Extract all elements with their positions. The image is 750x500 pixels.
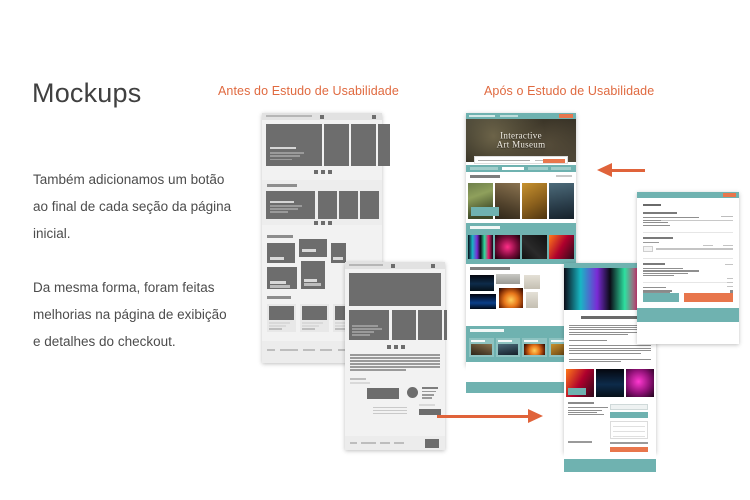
wireframe-qty-field[interactable] [367, 388, 399, 399]
summary-heading [643, 263, 665, 265]
nav-cta-button[interactable] [559, 114, 573, 118]
wireframe-hero-tile-4 [378, 124, 390, 166]
featured-tile-4[interactable] [549, 183, 574, 219]
ticket-form-details [568, 407, 608, 415]
article-gallery-2[interactable] [596, 369, 624, 397]
wireframe-nav-icon-2 [372, 115, 376, 119]
exhibition-tiles [468, 235, 574, 259]
filter-chip-4[interactable] [551, 167, 571, 170]
wireframe-cards-heading [267, 296, 291, 299]
after-homepage-mockup[interactable]: Interactive Art Museum [466, 113, 576, 366]
grand-total-label [643, 290, 672, 292]
wireframe-section-2-heading [267, 184, 297, 187]
collection-item-4[interactable] [470, 294, 496, 309]
wireframe-card-1[interactable] [267, 304, 296, 332]
wireframe-s2-tile-2 [318, 191, 337, 219]
visit-card-2[interactable] [496, 338, 521, 357]
article-title [581, 316, 639, 319]
payment-method-row[interactable] [643, 246, 733, 252]
wireframe-detail-body [350, 354, 440, 373]
collection-section [466, 264, 576, 326]
exhibitions-section [466, 223, 576, 264]
wireframe-collage-3 [331, 243, 346, 263]
collection-item-1[interactable] [470, 275, 494, 291]
wireframe-collage-heading [267, 235, 293, 238]
checkout-nav-cta[interactable] [723, 193, 736, 197]
back-button[interactable] [643, 293, 679, 302]
visit-cards [469, 338, 573, 357]
wireframe-price-lines [422, 387, 438, 400]
summary-items [643, 268, 733, 276]
wireframe-card-2[interactable] [300, 304, 329, 332]
checkout-body [637, 198, 739, 308]
arrow-left-icon [597, 162, 645, 178]
checkout-section-contact [643, 212, 733, 225]
wireframe-carousel-dots-1[interactable] [314, 170, 332, 174]
ticket-search-button[interactable] [610, 412, 648, 418]
filter-bar[interactable] [466, 165, 576, 172]
ticket-total-line [610, 442, 648, 444]
wireframe-carousel-dots-2[interactable] [314, 221, 332, 225]
wireframe-s2-tile-4 [360, 191, 379, 219]
featured-tiles [466, 183, 576, 219]
exhibition-tile-2[interactable] [495, 235, 520, 259]
article-gallery [564, 369, 656, 397]
wireframe-nav-icon-1 [320, 115, 324, 119]
visit-heading [470, 329, 504, 332]
collection-item-6[interactable] [526, 292, 538, 308]
ticket-quantity-input[interactable] [610, 404, 648, 410]
checkout-footer [637, 308, 739, 322]
visit-card-3[interactable] [522, 338, 547, 357]
article-ticket-form [564, 397, 656, 459]
paragraph-1: Também adicionamos um botão ao final de … [33, 166, 233, 247]
wireframe-detail-hero [349, 273, 441, 306]
collection-heading [470, 267, 510, 270]
article-gallery-3[interactable] [626, 369, 654, 397]
article-gallery-1-caption [568, 388, 586, 395]
wireframe-hero-tile-2 [324, 124, 349, 166]
search-submit-button[interactable] [543, 159, 565, 163]
filter-chip-1[interactable] [470, 167, 498, 170]
wireframe-s2-text [270, 201, 302, 214]
search-bar[interactable] [474, 156, 568, 164]
filter-chip-2[interactable] [502, 167, 524, 170]
before-column-heading: Antes do Estudo de Usabilidade [218, 84, 399, 98]
payment-heading [643, 237, 673, 239]
ticket-form-heading [568, 402, 594, 404]
visit-card-1[interactable] [469, 338, 494, 357]
exhibitions-heading [470, 226, 500, 229]
wireframe-navbar [262, 113, 382, 120]
article-footer [564, 459, 656, 472]
wireframe-collage-2 [299, 239, 327, 257]
wireframe-hero-text [270, 147, 306, 162]
arrow-right-icon [437, 408, 543, 424]
payment-label [643, 242, 659, 243]
article-paragraph-4 [569, 359, 651, 362]
visit-section [466, 326, 576, 362]
hero-title: Interactive Art Museum [466, 131, 576, 150]
after-checkout-mockup[interactable] [637, 192, 739, 344]
ticket-calendar[interactable] [610, 421, 648, 439]
featured-heading [470, 175, 500, 178]
contact-edit-link[interactable] [721, 216, 733, 217]
page-title: Mockups [32, 78, 141, 109]
featured-tile-1-caption [471, 207, 499, 216]
collection-item-5[interactable] [499, 288, 523, 308]
wireframe-hero-tile-3 [351, 124, 376, 166]
contact-heading [643, 212, 677, 214]
body-copy: Também adicionamos um botão ao final de … [33, 166, 233, 355]
wireframe-collage-1 [267, 243, 295, 263]
exhibition-tile-1[interactable] [468, 235, 493, 259]
contact-fields[interactable] [643, 217, 733, 225]
wireframe-detail-navbar [345, 262, 445, 269]
wireframe-s2-tile-3 [339, 191, 358, 219]
search-input-placeholder [478, 160, 530, 161]
checkout-section-summary [643, 258, 733, 276]
featured-see-all-link[interactable] [556, 175, 572, 177]
page-spacer [466, 362, 576, 382]
place-order-button[interactable] [684, 293, 733, 302]
filter-chip-3[interactable] [528, 167, 548, 170]
checkout-section-payment [643, 232, 733, 252]
collection-item-2[interactable] [496, 274, 520, 284]
wireframe-swatch-circle[interactable] [407, 387, 418, 398]
site-footer [466, 382, 576, 393]
site-logo [469, 115, 495, 117]
card-icon [643, 246, 653, 252]
checkout-actions [643, 293, 733, 302]
wireframe-calendar[interactable] [373, 407, 407, 415]
wireframe-detail-footer [345, 436, 445, 450]
hero-title-line-2: Art Museum [466, 141, 576, 151]
article-paragraph-3 [569, 345, 651, 353]
article-gallery-1[interactable] [566, 369, 594, 397]
after-column-heading: Após o Estudo de Usabilidade [484, 84, 654, 98]
exhibition-tile-3[interactable] [522, 235, 547, 259]
wireframe-detail-dots[interactable] [387, 345, 405, 349]
featured-tile-3[interactable] [522, 183, 547, 219]
before-detail-wireframe[interactable] [345, 262, 445, 450]
paragraph-2: Da mesma forma, foram feitas melhorias n… [33, 274, 233, 355]
featured-tile-1[interactable] [468, 183, 493, 219]
wireframe-logo [266, 115, 312, 117]
ticket-checkout-button[interactable] [610, 447, 648, 452]
summary-item-price [725, 264, 733, 265]
collection-item-3[interactable] [524, 275, 540, 289]
featured-section [466, 172, 576, 223]
exhibition-tile-4[interactable] [549, 235, 574, 259]
nav-links [500, 115, 518, 117]
slide-root: Mockups Também adicionamos um botão ao f… [0, 0, 750, 500]
checkout-page-title [643, 204, 661, 206]
